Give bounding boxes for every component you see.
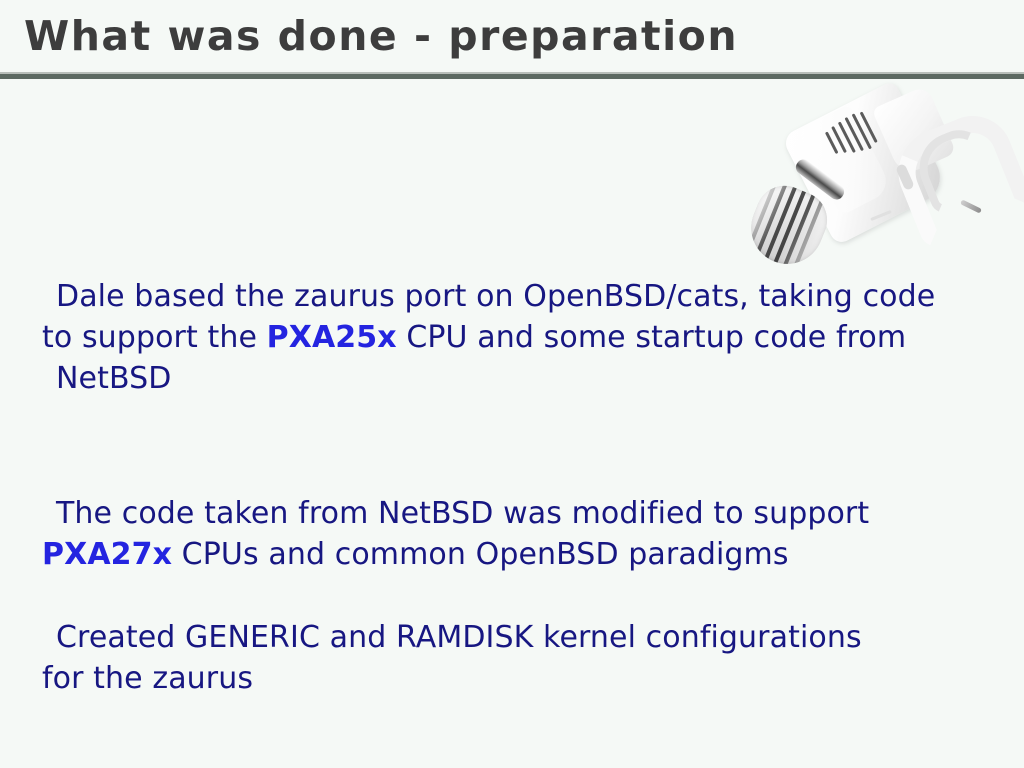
body-text: NetBSD xyxy=(56,361,171,396)
body-line: for the zaurus xyxy=(42,658,992,699)
body-line: The code taken from NetBSD was modified … xyxy=(42,493,992,534)
body-text: The code taken from NetBSD was modified … xyxy=(56,496,869,531)
body-line: PXA27x CPUs and common OpenBSD paradigms xyxy=(42,534,992,575)
title-divider xyxy=(0,72,1024,79)
body-line: Dale based the zaurus port on OpenBSD/ca… xyxy=(42,276,992,317)
body-text: for the zaurus xyxy=(42,661,253,696)
body-text: to support the xyxy=(42,320,267,355)
title-divider-bar xyxy=(0,74,1024,79)
body-text: Dale based the zaurus port on OpenBSD/ca… xyxy=(56,279,935,314)
slide-header: What was done - preparation xyxy=(0,0,1024,80)
body-paragraph: Created GENERIC and RAMDISK kernel confi… xyxy=(42,617,992,699)
body-text: CPU and some startup code from xyxy=(397,320,907,355)
body-paragraph: Dale based the zaurus port on OpenBSD/ca… xyxy=(42,276,992,399)
emphasized-term: PXA27x xyxy=(42,537,172,572)
body-line: to support the PXA25x CPU and some start… xyxy=(42,317,992,358)
emphasized-term: PXA25x xyxy=(267,320,397,355)
page-title: What was done - preparation xyxy=(24,8,738,64)
presentation-slide: What was done - preparation Dale based t… xyxy=(0,0,1024,768)
body-line: NetBSD xyxy=(42,358,992,399)
body-text: Created GENERIC and RAMDISK kernel confi… xyxy=(56,620,862,655)
body-line: Created GENERIC and RAMDISK kernel confi… xyxy=(42,617,992,658)
hand-mixer-image xyxy=(744,86,996,270)
body-text: CPUs and common OpenBSD paradigms xyxy=(172,537,789,572)
body-paragraph: The code taken from NetBSD was modified … xyxy=(42,493,992,575)
